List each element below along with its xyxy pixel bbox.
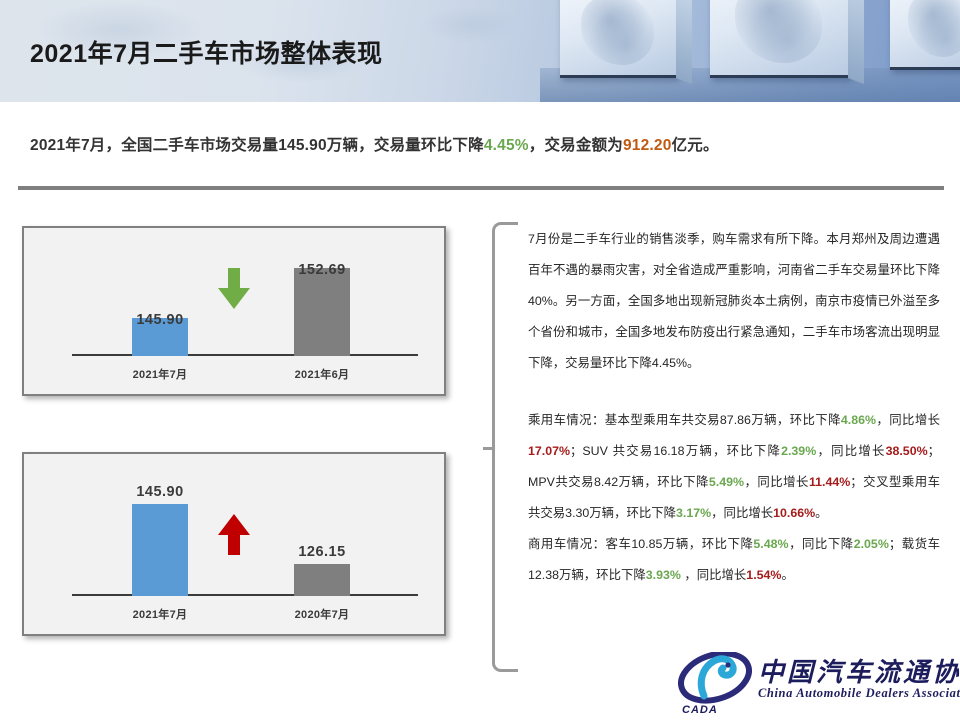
cube-icon bbox=[710, 0, 850, 78]
cada-logo-cn-text: 中国汽车流通协会 bbox=[758, 652, 960, 689]
cv-value-4: 1.54% bbox=[746, 568, 781, 582]
cv-text-2: ，同比下降 bbox=[789, 537, 854, 551]
summary-amount-value: 912.20 bbox=[623, 137, 672, 154]
brace-bracket bbox=[492, 222, 518, 672]
category-label: 2021年6月 bbox=[282, 366, 362, 382]
cada-logo-en-text: China Automobile Dealers Association bbox=[758, 686, 960, 701]
pv-value-1: 4.86% bbox=[841, 413, 876, 427]
pv-value-4: 38.50% bbox=[886, 444, 928, 458]
bar-series-compare bbox=[294, 268, 350, 356]
pv-value-3: 2.39% bbox=[781, 444, 816, 458]
bar-series-current bbox=[132, 504, 188, 596]
slide-root: 2021年7月二手车市场整体表现 2021年7月，全国二手车市场交易量145.9… bbox=[0, 0, 960, 720]
bar-value-label: 126.15 bbox=[282, 544, 362, 560]
cv-value-3: 3.93% bbox=[646, 568, 681, 582]
cube-icon bbox=[560, 0, 678, 78]
summary-statement: 2021年7月，全国二手车市场交易量145.90万辆，交易量环比下降4.45%，… bbox=[30, 133, 930, 155]
summary-text-2: ，交易金额为 bbox=[529, 137, 623, 154]
pv-text-4: ，同比增长 bbox=[816, 444, 885, 458]
cv-text-5: 。 bbox=[781, 568, 793, 582]
cv-value-2: 2.05% bbox=[854, 537, 889, 551]
x-axis-line bbox=[72, 354, 418, 356]
pv-value-2: 17.07% bbox=[528, 444, 570, 458]
bar-value-label: 145.90 bbox=[120, 312, 200, 328]
paragraph-passenger-vehicles: 乘用车情况：基本型乘用车共交易87.86万辆，环比下降4.86%，同比增长17.… bbox=[528, 405, 940, 529]
cada-logo-abbr: CADA bbox=[680, 704, 720, 716]
paragraph-commercial-vehicles: 商用车情况：客车10.85万辆，环比下降5.48%，同比下降2.05%；载货车1… bbox=[528, 529, 940, 591]
x-axis-line bbox=[72, 594, 418, 596]
pv-text-1: 乘用车情况：基本型乘用车共交易87.86万辆，环比下降 bbox=[528, 413, 841, 427]
pv-text-8: ，同比增长 bbox=[711, 506, 773, 520]
arrow-down-icon bbox=[217, 268, 251, 310]
cube-icon bbox=[890, 0, 960, 70]
arrow-up-icon bbox=[217, 514, 251, 556]
paragraph-market-overview: 7月份是二手车行业的销售淡季，购车需求有所下降。本月郑州及周边遭遇百年不遇的暴雨… bbox=[528, 224, 940, 379]
cada-logo-mark-icon bbox=[678, 652, 752, 706]
category-label: 2021年7月 bbox=[120, 606, 200, 622]
cv-text-1: 商用车情况：客车10.85万辆，环比下降 bbox=[528, 537, 753, 551]
category-label: 2021年7月 bbox=[120, 366, 200, 382]
pv-value-6: 11.44% bbox=[809, 475, 850, 489]
summary-text-1: 2021年7月，全国二手车市场交易量145.90万辆，交易量环比下降 bbox=[30, 137, 484, 154]
analysis-text-block: 7月份是二手车行业的销售淡季，购车需求有所下降。本月郑州及周边遭遇百年不遇的暴雨… bbox=[528, 224, 940, 591]
bar-value-label: 145.90 bbox=[120, 484, 200, 500]
category-label: 2020年7月 bbox=[282, 606, 362, 622]
cv-text-4: ，同比增长 bbox=[681, 568, 746, 582]
pv-text-6: ，同比增长 bbox=[744, 475, 809, 489]
header-band: 2021年7月二手车市场整体表现 bbox=[0, 0, 960, 102]
chart-plot-area: 145.90 2021年7月 126.15 2020年7月 bbox=[24, 454, 444, 634]
pv-value-5: 5.49% bbox=[709, 475, 744, 489]
brace-tick bbox=[483, 447, 495, 450]
chart-plot-area: 145.90 2021年7月 152.69 2021年6月 bbox=[24, 228, 444, 394]
pv-text-9: 。 bbox=[815, 506, 827, 520]
bar-series-compare bbox=[294, 564, 350, 596]
chart-mom-comparison: 145.90 2021年7月 152.69 2021年6月 bbox=[22, 226, 446, 396]
pv-text-2: ，同比增长 bbox=[876, 413, 940, 427]
cada-logo: 中国汽车流通协会 China Automobile Dealers Associ… bbox=[678, 648, 946, 714]
header-cubes-image bbox=[540, 0, 960, 102]
cv-value-1: 5.48% bbox=[753, 537, 788, 551]
chart-yoy-comparison: 145.90 2021年7月 126.15 2020年7月 bbox=[22, 452, 446, 636]
pv-text-3: ；SUV 共交易16.18万辆，环比下降 bbox=[570, 444, 781, 458]
summary-text-3: 亿元。 bbox=[672, 137, 719, 154]
paragraph-1-text: 7月份是二手车行业的销售淡季，购车需求有所下降。本月郑州及周边遭遇百年不遇的暴雨… bbox=[528, 232, 940, 370]
pv-value-7: 3.17% bbox=[676, 506, 711, 520]
page-title: 2021年7月二手车市场整体表现 bbox=[30, 34, 383, 70]
pv-value-8: 10.66% bbox=[773, 506, 815, 520]
summary-mom-value: 4.45% bbox=[484, 137, 529, 154]
header-divider bbox=[18, 186, 944, 190]
bar-value-label: 152.69 bbox=[282, 262, 362, 278]
